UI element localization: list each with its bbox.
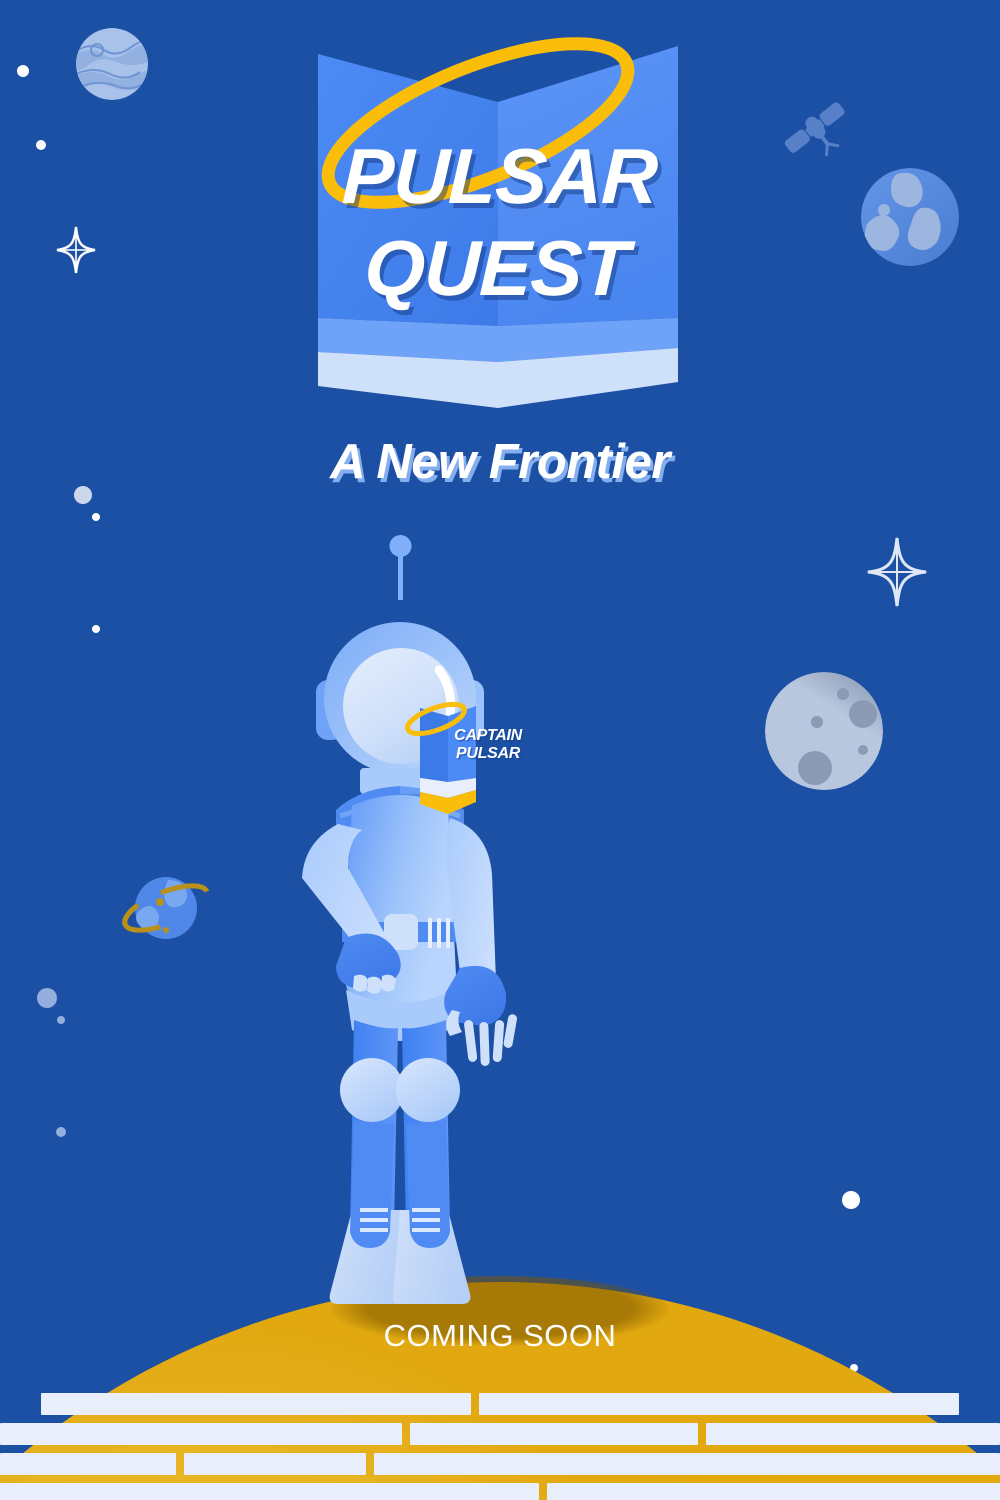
placeholder-bar-row	[0, 1423, 1000, 1445]
placeholder-bar	[547, 1483, 1000, 1500]
placeholder-bar-row	[0, 1483, 1000, 1500]
star-dot	[842, 1191, 860, 1209]
knee-pad	[340, 1058, 404, 1122]
planet-striped	[76, 28, 148, 100]
placeholder-bar	[0, 1483, 539, 1500]
placeholder-bar	[0, 1453, 176, 1475]
moon-gray	[765, 672, 883, 790]
poster-subtitle: A New Frontier	[0, 434, 1000, 490]
chest-badge-text: CAPTAIN PULSAR	[440, 727, 536, 763]
placeholder-bar	[184, 1453, 367, 1475]
placeholder-bar-row	[0, 1393, 1000, 1415]
star-dot	[92, 513, 100, 521]
sparkle-small-icon	[56, 226, 96, 274]
star-dot	[57, 1016, 65, 1024]
sparkle-large-icon	[866, 536, 928, 608]
antenna-icon	[398, 550, 403, 600]
planet-earth	[861, 168, 959, 266]
logo-title-line2: QUEST	[245, 222, 748, 314]
poster-canvas: PULSAR QUEST A New Frontier	[0, 0, 1000, 1500]
chest-badge-line2: PULSAR	[440, 745, 536, 763]
coming-soon-label: COMING SOON	[0, 1318, 1000, 1354]
placeholder-bar-row	[0, 1453, 1000, 1475]
star-dot	[17, 65, 29, 77]
astronaut-illustration	[300, 520, 700, 1310]
placeholder-bar	[374, 1453, 1000, 1475]
placeholder-bar	[41, 1393, 471, 1415]
logo-title-line1: PULSAR	[248, 130, 751, 222]
satellite-icon	[779, 92, 851, 164]
planet-ringed	[116, 858, 216, 958]
star-dot	[56, 1127, 66, 1137]
star-dot	[37, 988, 57, 1008]
placeholder-text-bars	[0, 1393, 1000, 1500]
star-dot	[92, 625, 100, 633]
placeholder-bar	[706, 1423, 1000, 1445]
placeholder-bar	[410, 1423, 697, 1445]
logo-lockup: PULSAR QUEST	[248, 18, 748, 438]
chest-badge-line1: CAPTAIN	[440, 727, 536, 745]
logo-wordmark: PULSAR QUEST	[245, 130, 751, 314]
star-dot	[36, 140, 46, 150]
knee-pad	[396, 1058, 460, 1122]
placeholder-bar	[0, 1423, 402, 1445]
placeholder-bar	[479, 1393, 959, 1415]
